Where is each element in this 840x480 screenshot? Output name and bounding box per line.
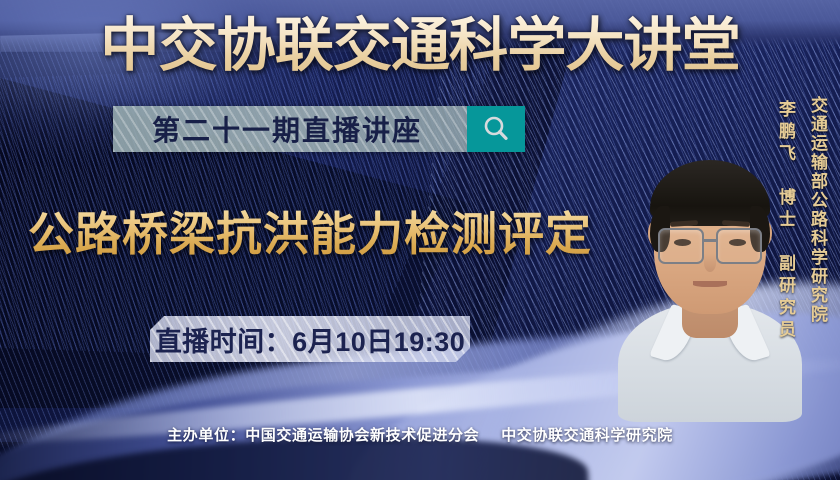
footer-prefix: 主办单位： <box>167 427 245 444</box>
portrait-glasses-bridge <box>702 239 718 242</box>
subtitle-banner: 第二十一期直播讲座 <box>113 106 525 152</box>
portrait-nose <box>704 254 716 272</box>
subtitle-label: 第二十一期直播讲座 <box>113 106 467 152</box>
poster-canvas: 交通运输部公路科学研究院 李鹏飞 博士 副研究员 中交协联交通科学大讲堂 第二十… <box>0 0 840 480</box>
footer-organizers: 主办单位：中国交通运输协会新技术促进分会中交协联交通科学研究院 <box>0 424 840 445</box>
portrait-lens-left <box>658 228 704 264</box>
footer-org-1: 中国交通运输协会新技术促进分会 <box>245 427 479 444</box>
search-icon-box[interactable] <box>467 106 525 152</box>
portrait-lens-right <box>716 228 762 264</box>
portrait-mouth <box>693 281 727 287</box>
speaker-name-title: 李鹏飞 博士 副研究员 <box>773 100 798 342</box>
lecture-headline: 公路桥梁抗洪能力检测评定 <box>28 206 592 262</box>
broadcast-time-text: 直播时间：6月10日19:30 <box>155 320 466 359</box>
page-title: 中交协联交通科学大讲堂 <box>0 14 840 76</box>
speaker-organization: 交通运输部公路科学研究院 <box>805 96 830 324</box>
search-icon <box>481 114 511 144</box>
broadcast-time-banner: 直播时间：6月10日19:30 <box>150 316 470 362</box>
footer-org-2: 中交协联交通科学研究院 <box>501 427 673 444</box>
